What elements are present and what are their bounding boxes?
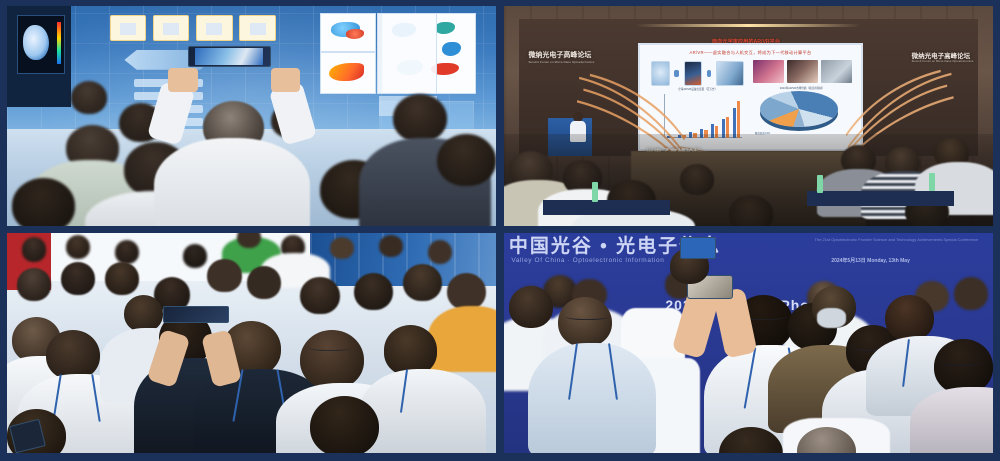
- stage-light-strip: [636, 24, 861, 27]
- photo-apple-headset: [821, 60, 852, 83]
- slide-title: AR/VR——虚实融合与人机交互，将成为下一代移动计算平台: [640, 50, 860, 56]
- simulation-thumb-1: [320, 13, 376, 52]
- backdrop-subtitle-en: The 21st Optoelectronic Frontier Science…: [815, 237, 979, 242]
- process-box: [110, 15, 147, 41]
- banner-left-zh: 微纳光电子高峰论坛: [528, 52, 591, 59]
- process-box: [196, 15, 233, 41]
- face-mask: [817, 308, 846, 328]
- slide-flow-images: [651, 62, 743, 85]
- bar-group: [733, 95, 740, 138]
- water-bottle: [592, 182, 598, 202]
- backdrop-date: 2024年5月13日 Monday, 13th May: [831, 257, 910, 264]
- photo-microsoft-hologram: [787, 60, 818, 83]
- bar-group: [689, 95, 696, 138]
- audience-table: [807, 191, 954, 206]
- water-bottle: [929, 173, 935, 191]
- backdrop-title-en: Valley Of China · Optoelectronic Informa…: [511, 257, 664, 264]
- bar-group: [711, 95, 718, 138]
- stage-banner-right: 微纳光电子高峰论坛 Summit Forum on Micro-Nano Opt…: [912, 50, 974, 63]
- banner-right-en: Summit Forum on Micro-Nano Optoelectroni…: [912, 60, 974, 63]
- flow-arrow-1: [674, 70, 679, 77]
- simulation-thumb-2: [320, 52, 376, 94]
- water-bottle: [817, 175, 823, 193]
- flow-image-perception: [651, 61, 669, 86]
- bar-group: [667, 95, 674, 138]
- eyeglasses: [565, 310, 609, 320]
- thermal-map-widget: [17, 15, 65, 74]
- pie-chart-disc: [760, 91, 838, 127]
- smartphone-recording: [188, 46, 271, 68]
- bar-vr: [737, 101, 740, 138]
- banner-left-en: Summit Forum on Micro-Nano Optoelectroni…: [528, 60, 594, 64]
- eyeglasses: [939, 356, 983, 366]
- bar-group: [700, 95, 707, 138]
- stage-banner-left: 微纳光电子高峰论坛 Summit Forum on Micro-Nano Opt…: [528, 50, 594, 64]
- screen-right-panel: [377, 13, 438, 94]
- smartphone-raised: [680, 237, 716, 259]
- slide-photo-strip: [753, 60, 852, 83]
- eyeglasses: [308, 341, 352, 351]
- flow-arrow-2: [707, 70, 712, 77]
- photo-collage: Attendees photographing a large blue tec…: [0, 0, 1000, 461]
- flow-image-display: [684, 61, 702, 86]
- process-box-row: [110, 15, 276, 41]
- flow-image-interaction: [716, 61, 744, 86]
- bar-chart-caption: 全球AR/VR设备出货量（百万台）: [651, 87, 743, 91]
- photo-facebook-metaverse: [753, 60, 784, 83]
- bar-group: [722, 95, 729, 138]
- panel-audience-blue-backdrop: 中国光谷 • 光电子信息 Valley Of China · Optoelect…: [504, 233, 993, 453]
- process-box: [153, 15, 190, 41]
- bar-chart-bars: [666, 95, 743, 138]
- audience-table: [543, 200, 670, 215]
- panel-exhibition-booth: Attendees photographing a large blue tec…: [7, 6, 496, 226]
- panel-conference-hall: 微纳光电子高峰论坛 Summit Forum on Micro-Nano Opt…: [504, 6, 993, 226]
- slide-pie-chart: 教育培训 14%: [755, 83, 847, 141]
- smartphone-filming: [163, 306, 229, 323]
- panel-dense-audience: Dense crowd of attendees with blue lanya…: [7, 233, 496, 453]
- banner-right-zh: 微纳光电子高峰论坛: [912, 53, 971, 60]
- process-box: [239, 15, 276, 41]
- bar-group: [678, 95, 685, 138]
